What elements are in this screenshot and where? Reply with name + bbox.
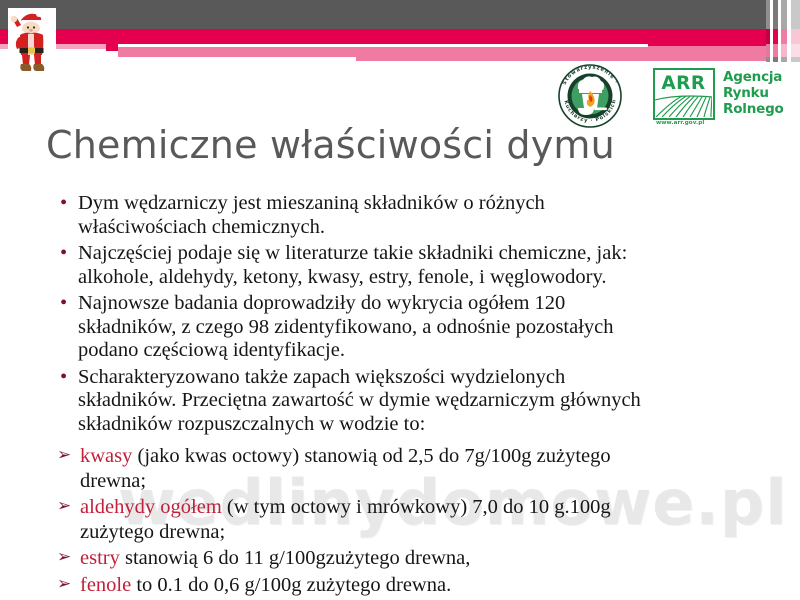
page-title: Chemiczne właściwości dymu: [46, 122, 746, 168]
arr-line-2: Rynku: [723, 85, 800, 101]
list-item-line: (w tym octowy i mrówkowy) 7,0 do 10 g.10…: [222, 496, 611, 518]
list-item-line: Najnowsze badania doprowadziły do wykryc…: [78, 292, 565, 314]
stripe-pink-3: [781, 29, 787, 44]
header-pink-short-band: [356, 57, 766, 61]
list-item-line: Dym wędzarniczy jest mieszaniną składnik…: [78, 192, 545, 214]
list-item: ➢ fenole to 0.1 do 0,6 g/100g zużytego d…: [56, 573, 756, 598]
arr-logo-text: Agencja Rynku Rolnego: [723, 69, 800, 117]
stripe-pink-lower-1: [766, 44, 770, 57]
slide-canvas: Stowarzyszenie · Kucharzy · Polskich · A…: [0, 0, 800, 600]
list-item-line: składników. Przeciętna zawartość w dymie…: [78, 389, 641, 411]
arrow-bullet-icon: ➢: [57, 572, 71, 597]
header-white-divider-line: [118, 44, 648, 47]
stripe-pink-4: [791, 29, 800, 44]
list-item-keyword: fenole: [80, 574, 131, 596]
header-banner: [0, 0, 800, 62]
arr-badge-icon: ARR: [653, 68, 715, 120]
list-item-line: właściwościach chemicznych.: [78, 216, 325, 238]
bullet-dot-icon: •: [60, 366, 67, 390]
arr-line-1: Agencja: [723, 69, 800, 85]
list-item: • Najnowsze badania doprowadziły do wykr…: [56, 292, 756, 363]
list-item: ➢ estry stanowią 6 do 11 g/100gzużytego …: [56, 546, 756, 571]
header-pink-long-band: [118, 46, 766, 57]
bullet-dot-icon: •: [60, 242, 67, 266]
bullet-dot-icon: •: [60, 292, 67, 316]
list-item: ➢ aldehydy ogółem (w tym octowy i mrówko…: [56, 495, 756, 544]
list-item-line: Najczęściej podaje się w literaturze tak…: [78, 242, 627, 264]
stripe-pink-1: [766, 29, 770, 44]
list-item-line: składników rozpuszczalnych w wodzie to:: [78, 413, 425, 435]
list-item-keyword: aldehydy ogółem: [80, 496, 222, 518]
list-item-keyword: kwasy: [80, 445, 132, 467]
svg-text:ARR: ARR: [661, 73, 705, 94]
arr-line-3: Rolnego: [723, 101, 800, 117]
arrow-bullet-icon: ➢: [57, 443, 71, 468]
list-item-line: alkohole, aldehydy, ketony, kwasy, estry…: [78, 266, 607, 288]
stripe-pink-lower-3: [781, 44, 787, 57]
bullet-dot-icon: •: [60, 192, 67, 216]
arrow-bullet-icon: ➢: [57, 545, 71, 570]
list-item-line: podano częściową identyfikacje.: [78, 339, 345, 361]
list-item: • Dym wędzarniczy jest mieszaniną składn…: [56, 192, 756, 239]
agencja-rynku-rolnego-logo: ARR Agencja Rynku Rolnego ww: [653, 68, 800, 128]
list-item-line: składników, z czego 98 zidentyfikowano, …: [78, 316, 614, 338]
list-item: • Najczęściej podaje się w literaturze t…: [56, 242, 756, 289]
list-item-line: zużytego drewna;: [80, 521, 225, 543]
list-item-line: stanowią 6 do 11 g/100gzużytego drewna,: [120, 547, 471, 569]
arrow-bullet-icon: ➢: [57, 494, 71, 519]
list-item-line: drewna;: [80, 470, 146, 492]
list-item-line: (jako kwas octowy) stanowią od 2,5 do 7g…: [132, 445, 610, 467]
list-item: • Scharakteryzowano także zapach większo…: [56, 366, 756, 437]
santa-claus-icon: [8, 8, 56, 74]
list-item-keyword: estry: [80, 547, 120, 569]
list-item-line: to 0.1 do 0,6 g/100g zużytego drewna.: [131, 574, 451, 596]
list-item-line: Scharakteryzowano także zapach większośc…: [78, 366, 565, 388]
header-gray-band: [0, 0, 766, 29]
stripe-pink-lower-2: [773, 44, 778, 57]
stowarzyszenie-kucharzy-polskich-logo: Stowarzyszenie · Kucharzy · Polskich ·: [556, 63, 624, 129]
list-item: ➢ kwasy (jako kwas octowy) stanowią od 2…: [56, 444, 756, 493]
slide-body: • Dym wędzarniczy jest mieszaniną składn…: [56, 192, 756, 599]
stripe-pink-2: [773, 29, 778, 44]
stripe-pink-lower-4: [791, 44, 800, 57]
